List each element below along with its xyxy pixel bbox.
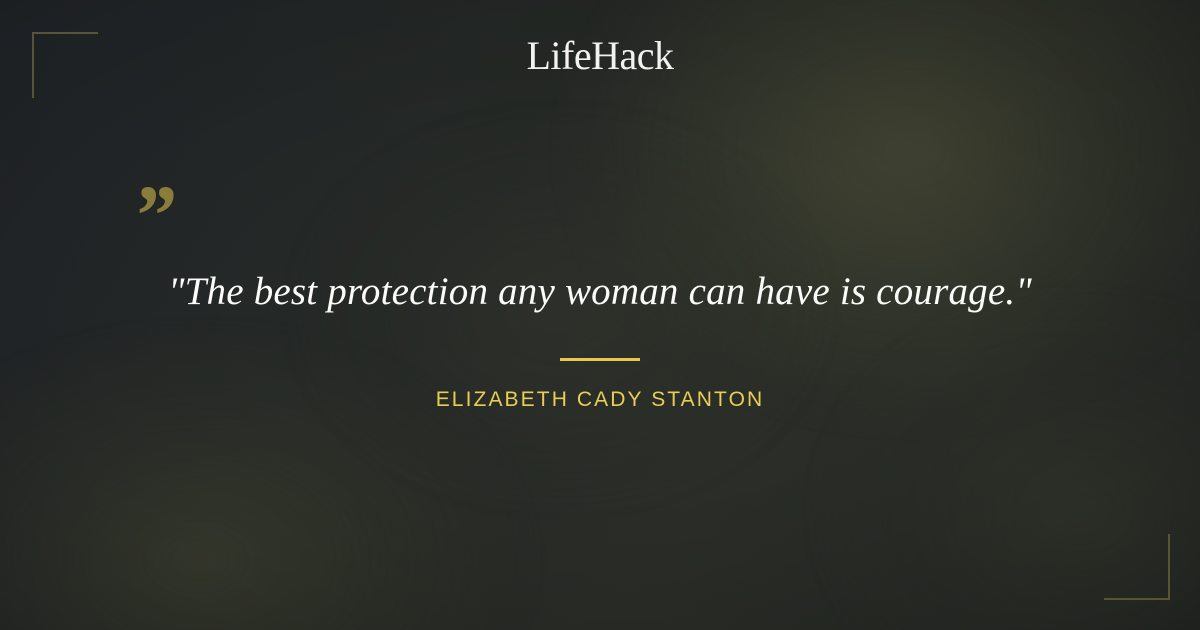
brand-logo: LifeHack	[0, 36, 1200, 76]
quotation-mark-icon: ”	[132, 172, 176, 258]
gold-divider	[560, 358, 640, 361]
quote-card: LifeHack ” "The best protection any woma…	[0, 0, 1200, 630]
quote-attribution: ELIZABETH CADY STANTON	[0, 388, 1200, 412]
quote-text: "The best protection any woman can have …	[0, 268, 1200, 317]
